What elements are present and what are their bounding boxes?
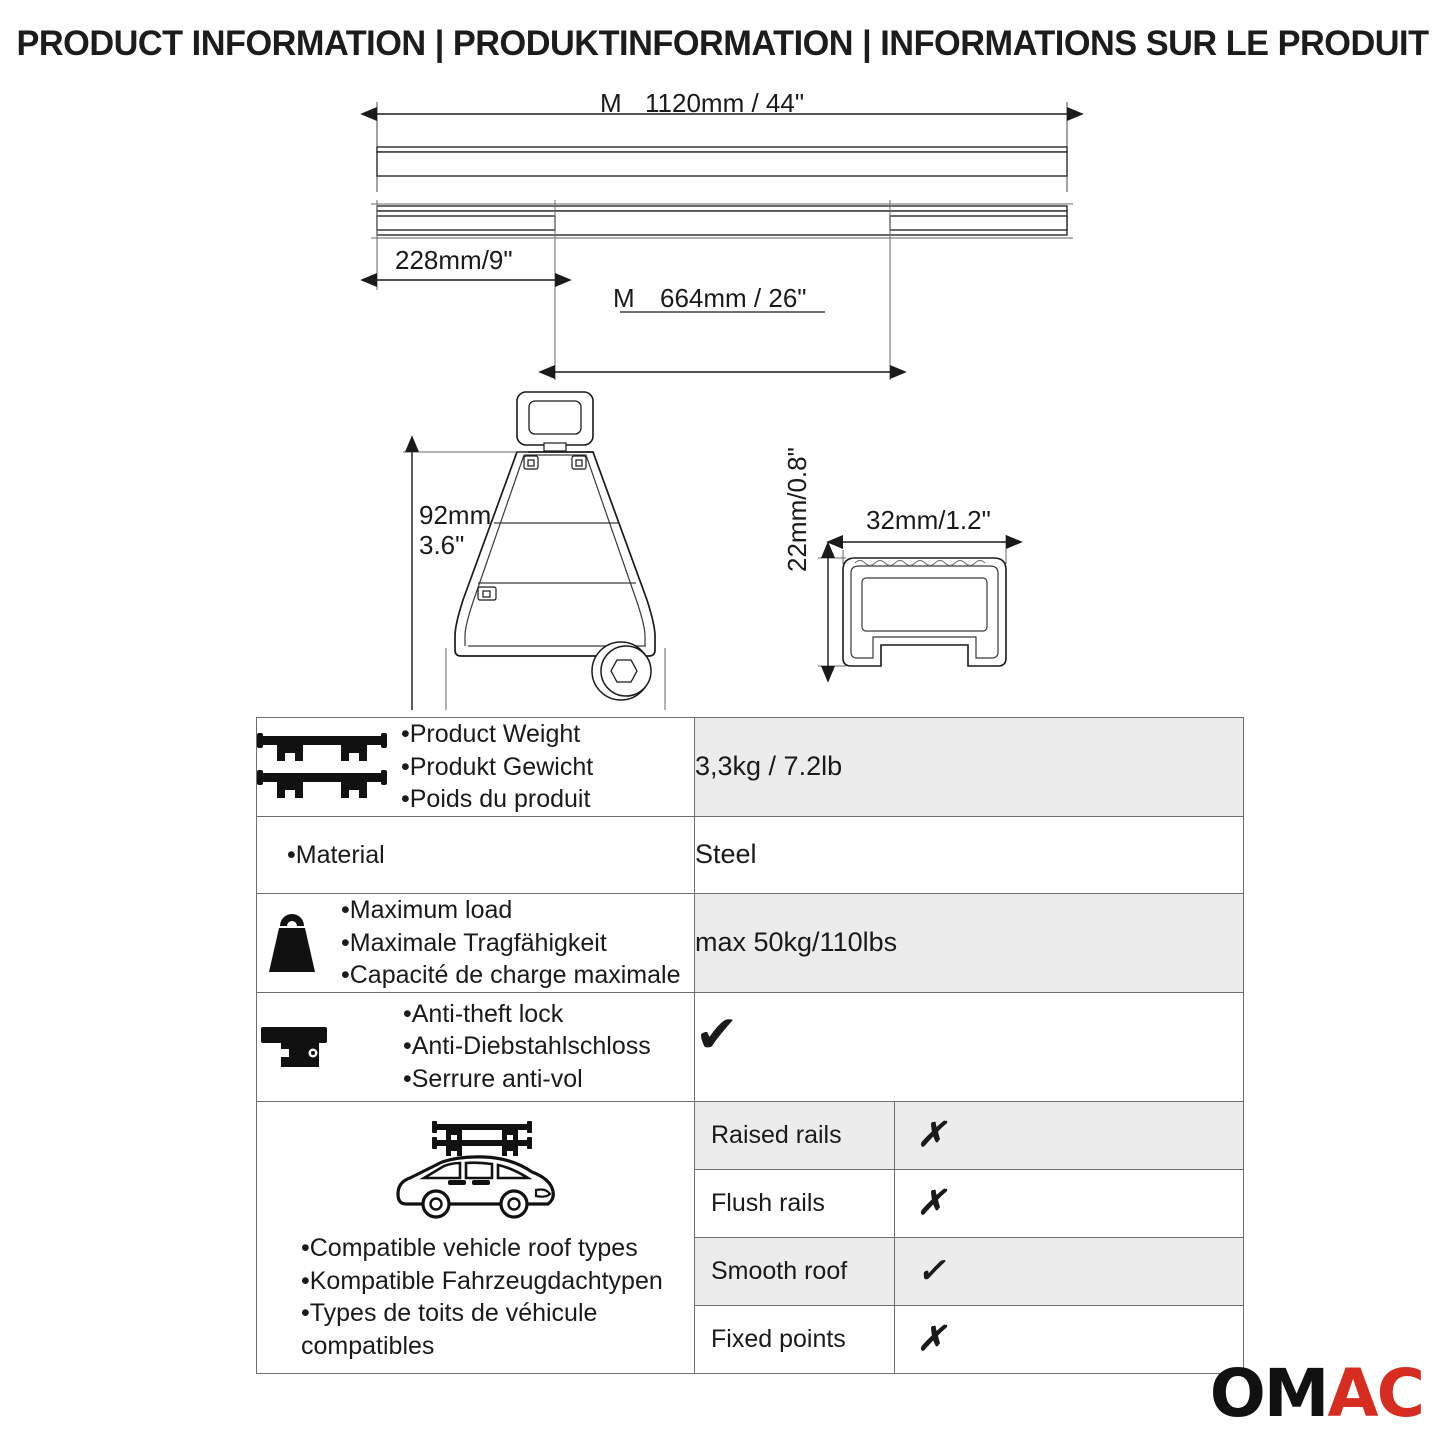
anti-theft-value: ✔	[695, 992, 1244, 1101]
roof-type-mark: ✗	[895, 1305, 1244, 1373]
row-label-text: •Maximum load •Maximale Tragfähigkeit •C…	[341, 894, 680, 992]
lock-icon	[257, 1017, 337, 1077]
compatibility-label-text: •Compatible vehicle roof types •Kompatib…	[257, 1232, 694, 1362]
roof-type-row: Smooth roof ✓	[695, 1237, 1243, 1305]
label-line: •Material	[287, 839, 385, 872]
dim-profile-height: 22mm/0.8"	[782, 447, 813, 572]
dim-profile-width: 32mm/1.2"	[866, 505, 991, 536]
table-row: •Product Weight •Produkt Gewicht •Poids …	[257, 718, 1244, 817]
product-weight-value: 3,3kg / 7.2lb	[695, 718, 1244, 817]
roof-types-table: Raised rails ✗ Flush rails ✗	[695, 1102, 1243, 1373]
label-line: •Maximum load	[341, 894, 680, 927]
label-line: •Kompatible Fahrzeugdachtypen	[301, 1265, 694, 1298]
cross-mark-icon: ✗	[917, 1320, 946, 1358]
row-label-cell: •Product Weight •Produkt Gewicht •Poids …	[257, 718, 695, 817]
roof-type-mark: ✗	[895, 1169, 1244, 1237]
check-mark-icon: ✔	[695, 1005, 739, 1065]
roof-type-mark: ✗	[895, 1102, 1244, 1170]
omac-logo: OMAC	[1210, 1361, 1423, 1427]
crossbars-icon	[257, 730, 387, 804]
specification-table: •Product Weight •Produkt Gewicht •Poids …	[256, 717, 1244, 1374]
dim-bar-length-prefix: M	[600, 88, 622, 119]
logo-text-red: AC	[1327, 1355, 1423, 1432]
dim-bar-length: 1120mm / 44"	[645, 88, 804, 119]
compatibility-label-cell: •Compatible vehicle roof types •Kompatib…	[257, 1101, 695, 1373]
table-row: •Anti-theft lock •Anti-Diebstahlschloss …	[257, 992, 1244, 1101]
label-line: •Anti-Diebstahlschloss	[403, 1030, 651, 1063]
label-line: •Anti-theft lock	[403, 998, 651, 1031]
dim-foot-height-in: 3.6"	[419, 530, 464, 561]
product-information-sheet: PRODUCT INFORMATION | PRODUKTINFORMATION…	[0, 0, 1445, 1445]
table-row: •Maximum load •Maximale Tragfähigkeit •C…	[257, 894, 1244, 993]
row-label-cell: •Material	[257, 816, 695, 894]
roof-type-name: Flush rails	[695, 1169, 895, 1237]
roof-type-name: Raised rails	[695, 1102, 895, 1170]
label-line: •Types de toits de véhicule	[301, 1297, 694, 1330]
label-line: •Product Weight	[401, 718, 593, 751]
label-line: •Compatible vehicle roof types	[301, 1232, 694, 1265]
row-label-cell: •Maximum load •Maximale Tragfähigkeit •C…	[257, 894, 695, 993]
roof-type-row: Raised rails ✗	[695, 1102, 1243, 1170]
label-line: •Capacité de charge maximale	[341, 959, 680, 992]
logo-text-dark: OM	[1210, 1355, 1328, 1432]
check-mark-icon: ✓	[917, 1252, 946, 1290]
cross-mark-icon: ✗	[917, 1116, 946, 1154]
label-line: •Maximale Tragfähigkeit	[341, 927, 680, 960]
roof-type-row: Flush rails ✗	[695, 1169, 1243, 1237]
dim-span: 664mm / 26"	[660, 283, 807, 314]
dim-span-prefix: M	[613, 283, 635, 314]
row-label-text: •Product Weight •Produkt Gewicht •Poids …	[401, 718, 593, 816]
row-label-text: •Anti-theft lock •Anti-Diebstahlschloss …	[403, 998, 651, 1096]
label-line: •Poids du produit	[401, 783, 593, 816]
row-label-cell: •Anti-theft lock •Anti-Diebstahlschloss …	[257, 992, 695, 1101]
label-line: •Serrure anti-vol	[403, 1063, 651, 1096]
dim-foot-height-mm: 92mm	[419, 500, 491, 531]
material-value: Steel	[695, 816, 1244, 894]
technical-drawing: M 1120mm / 44" 228mm/9" M 664mm / 26" 92…	[0, 80, 1445, 710]
roof-type-name: Fixed points	[695, 1305, 895, 1373]
roof-type-row: Fixed points ✗	[695, 1305, 1243, 1373]
table-row: •Compatible vehicle roof types •Kompatib…	[257, 1101, 1244, 1373]
roof-type-name: Smooth roof	[695, 1237, 895, 1305]
max-load-value: max 50kg/110lbs	[695, 894, 1244, 993]
cross-mark-icon: ✗	[917, 1184, 946, 1222]
table-row: •Material Steel	[257, 816, 1244, 894]
car-with-roofbars-icon	[257, 1116, 694, 1226]
roof-types-cell: Raised rails ✗ Flush rails ✗	[695, 1101, 1244, 1373]
row-label-text: •Material	[257, 839, 385, 872]
weight-icon	[257, 908, 327, 978]
page-title: PRODUCT INFORMATION | PRODUKTINFORMATION…	[14, 24, 1430, 64]
label-line: compatibles	[301, 1330, 694, 1363]
roof-type-mark: ✓	[895, 1237, 1244, 1305]
dim-end-offset: 228mm/9"	[395, 245, 513, 276]
label-line: •Produkt Gewicht	[401, 751, 593, 784]
